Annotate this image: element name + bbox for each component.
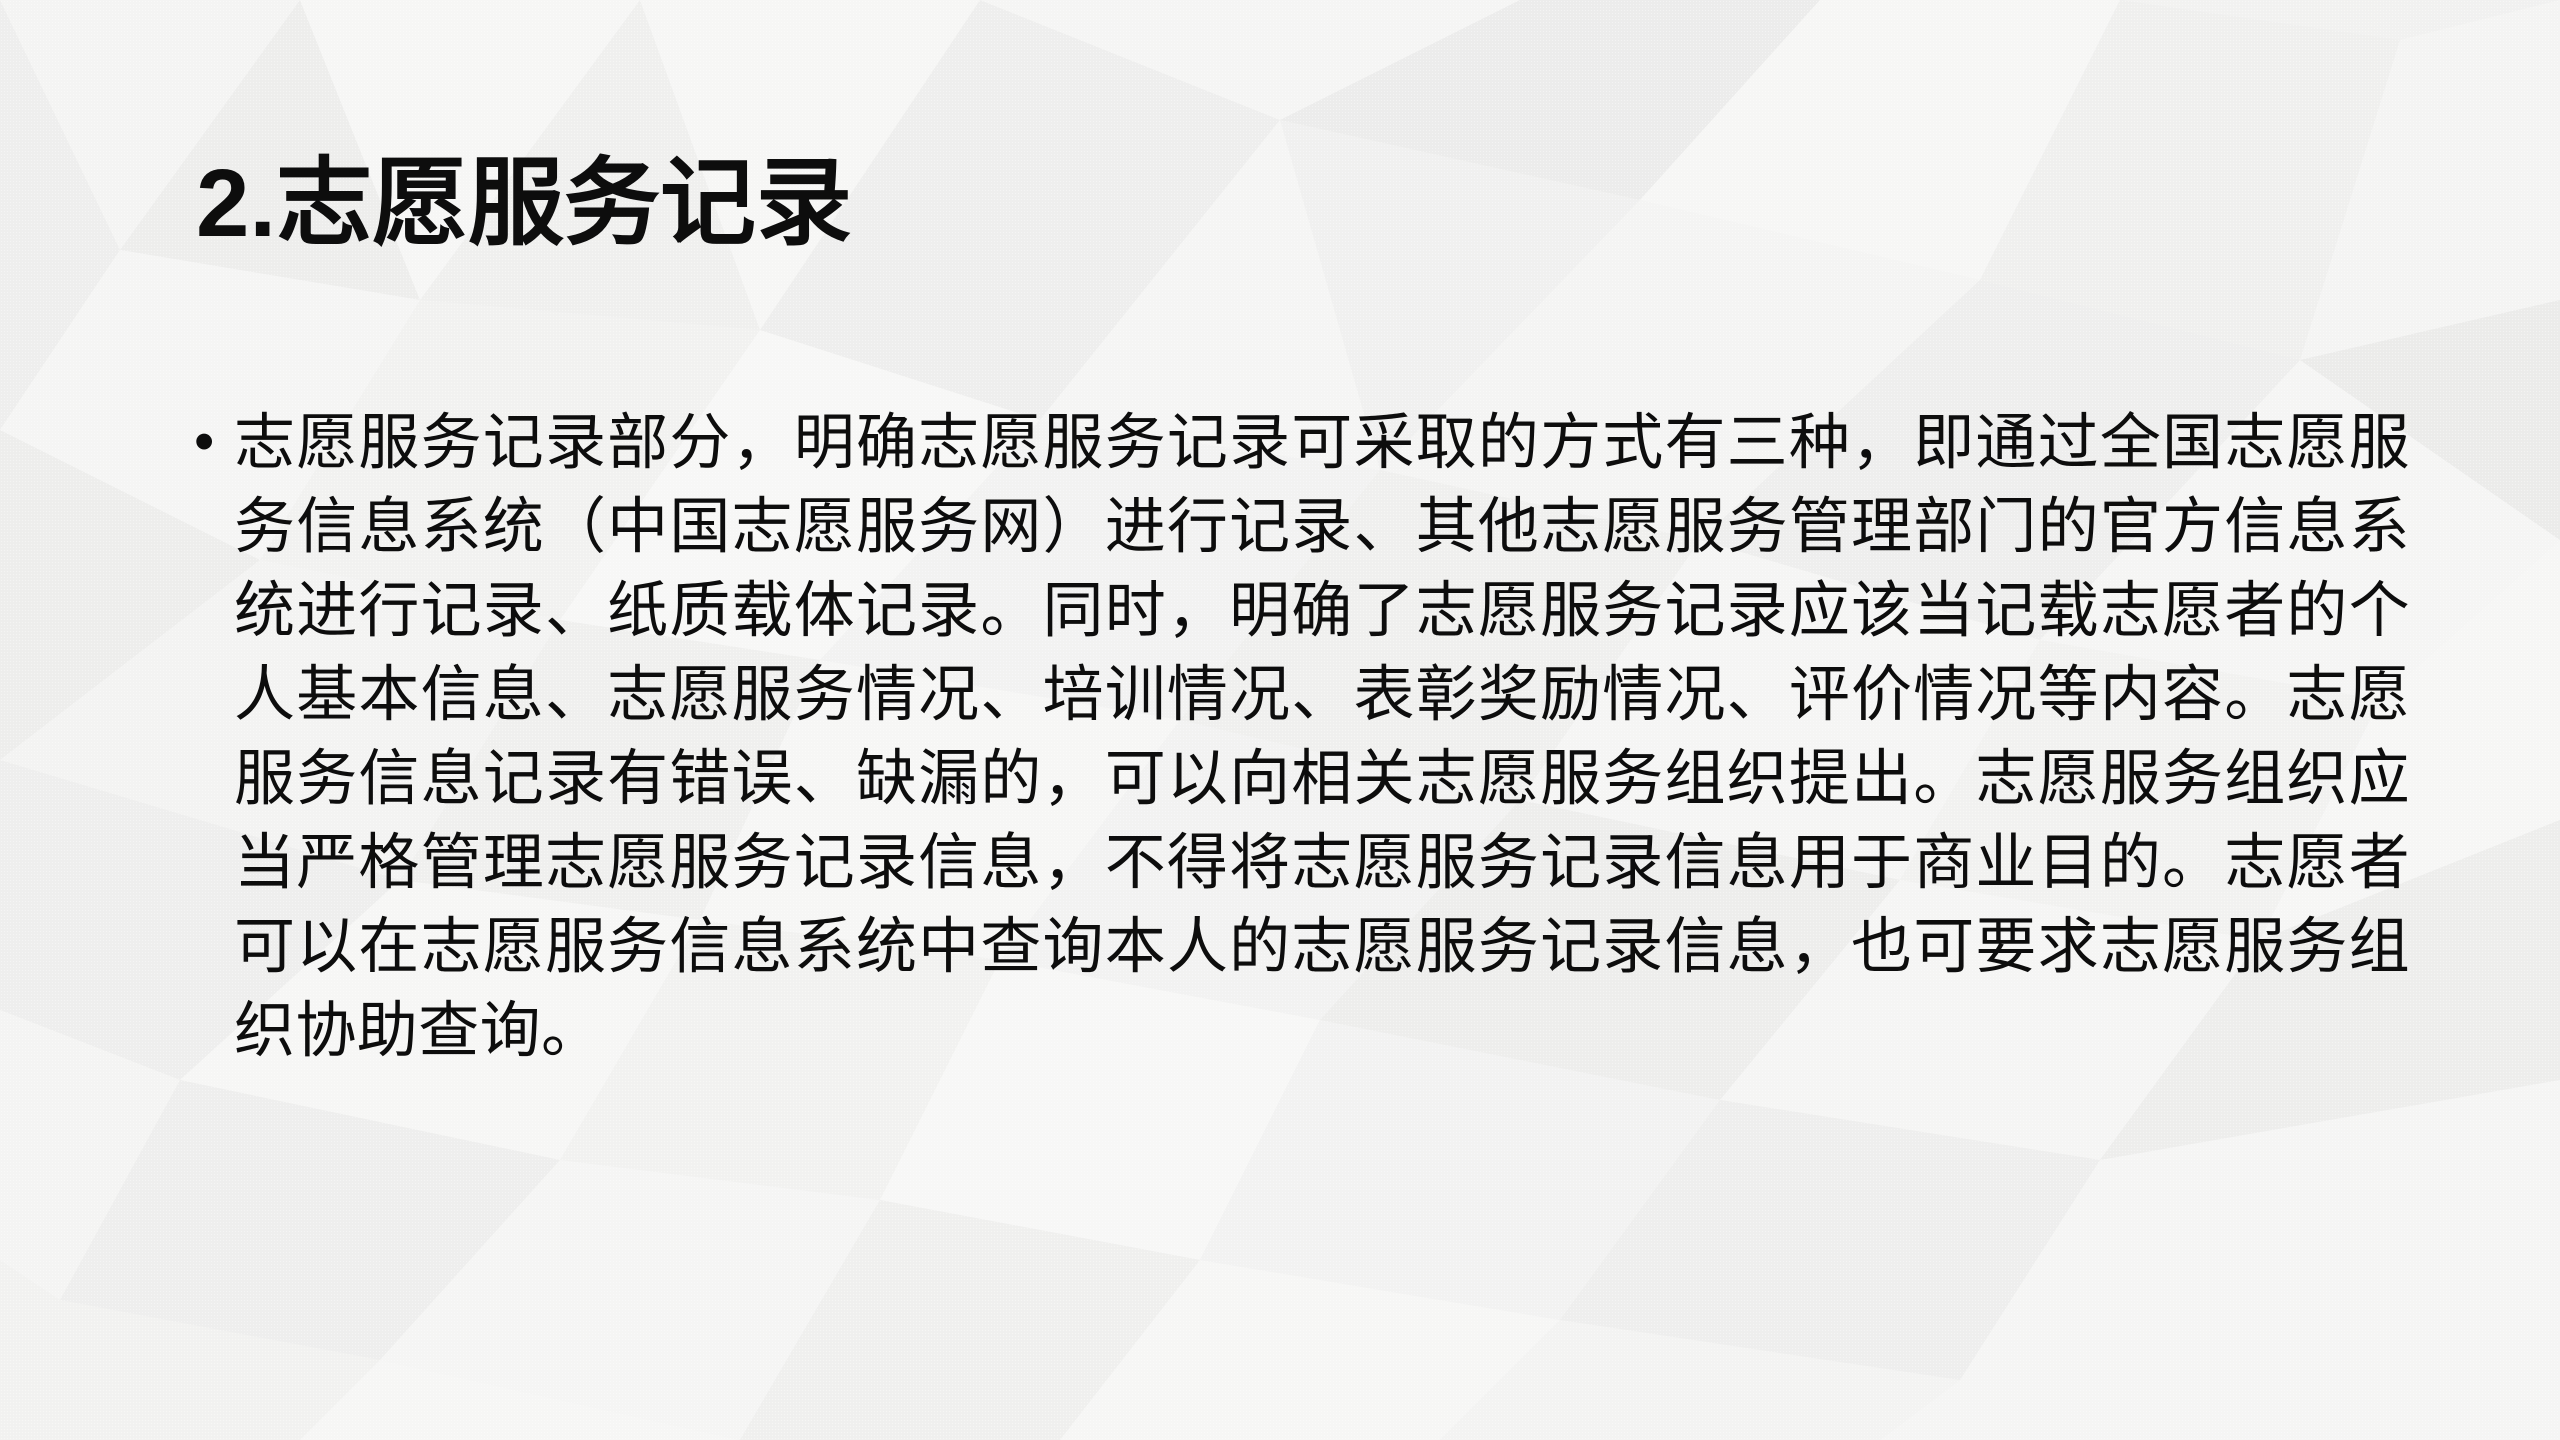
bullet-paragraph-text: 志愿服务记录部分，明确志愿服务记录可采取的方式有三种，即通过全国志愿服务信息系统… (234, 400, 2410, 1072)
bullet-point-icon: • (190, 400, 234, 484)
slide-content: 2.志愿服务记录 • 志愿服务记录部分，明确志愿服务记录可采取的方式有三种，即通… (0, 0, 2560, 1440)
bullet-paragraph: 志愿服务记录部分，明确志愿服务记录可采取的方式有三种，即通过全国志愿服务信息系统… (234, 400, 2410, 1072)
presentation-slide: 2.志愿服务记录 • 志愿服务记录部分，明确志愿服务记录可采取的方式有三种，即通… (0, 0, 2560, 1440)
body-bullet-list: • 志愿服务记录部分，明确志愿服务记录可采取的方式有三种，即通过全国志愿服务信息… (190, 400, 2410, 1072)
page-title: 2.志愿服务记录 (196, 152, 852, 256)
list-item: • 志愿服务记录部分，明确志愿服务记录可采取的方式有三种，即通过全国志愿服务信息… (190, 400, 2410, 1072)
